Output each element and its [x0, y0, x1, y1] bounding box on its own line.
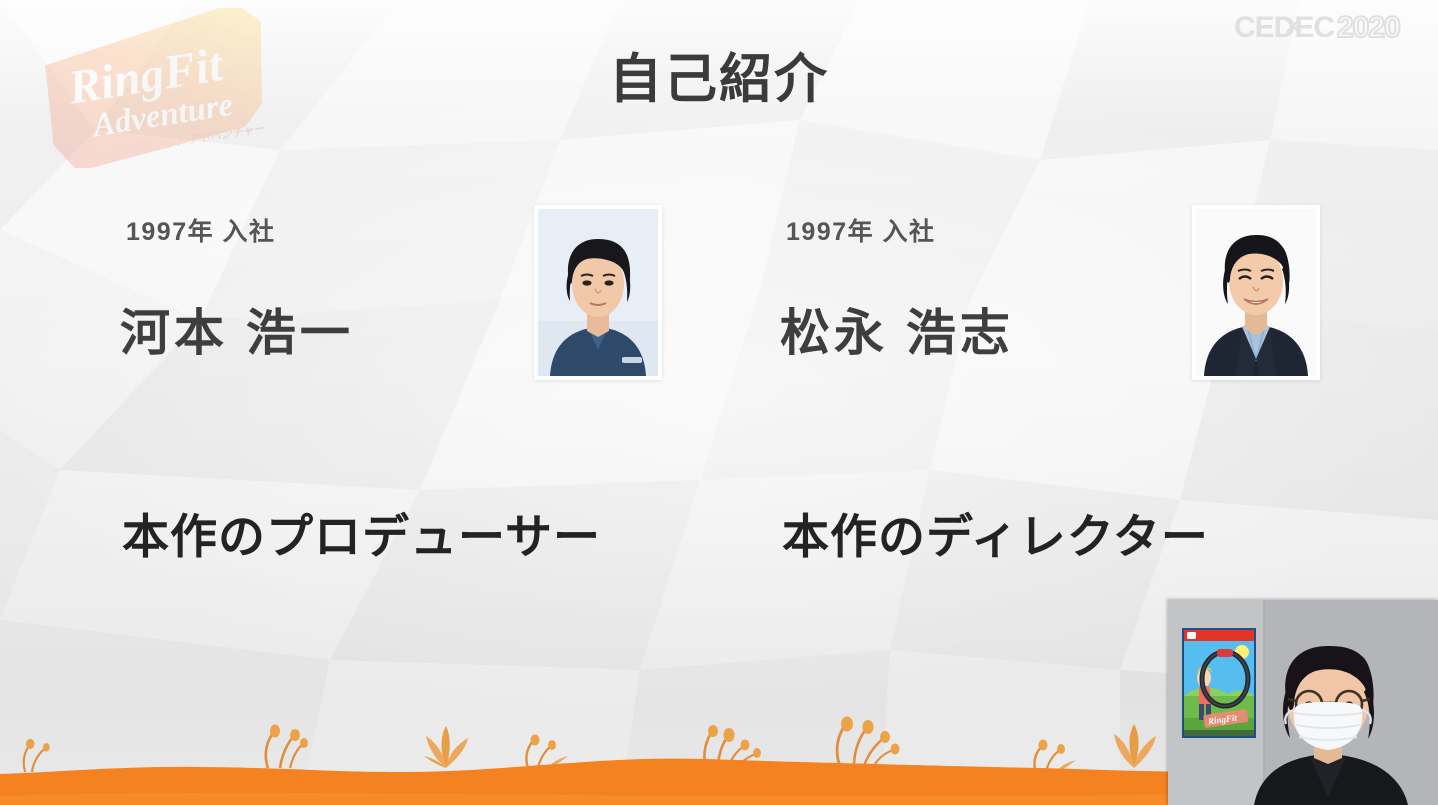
join-year-left: 1997年 入社	[126, 212, 276, 248]
cedec-2020-logo: CEDEC 2020	[1234, 9, 1426, 45]
person-card-left: 1997年 入社 河本 浩一 本作のプロデューサー	[112, 185, 712, 615]
svg-text:CEDEC: CEDEC	[1234, 11, 1334, 44]
people-columns: 1997年 入社 河本 浩一 本作のプロデューサー	[0, 185, 1438, 615]
page-title: 自己紹介	[0, 52, 1438, 108]
presenter-webcam-overlay[interactable]: RingFit	[1168, 600, 1438, 805]
portrait-photo-right	[1192, 205, 1320, 380]
person-name-right: 松永 浩志	[780, 293, 1014, 365]
presentation-slide: RingFit Adventure リングフィット アドベンチャー CEDEC …	[0, 0, 1438, 805]
person-name-left: 河本 浩一	[120, 293, 354, 365]
join-year-right: 1997年 入社	[786, 212, 936, 248]
person-role-left: 本作のプロデューサー	[122, 498, 601, 567]
svg-text:2020: 2020	[1337, 11, 1400, 44]
person-role-right: 本作のディレクター	[782, 498, 1209, 567]
person-card-right: 1997年 入社 松永 浩志 本作のディレクター	[772, 185, 1372, 615]
ringfit-poster-icon: RingFit	[1182, 628, 1256, 738]
portrait-photo-left	[534, 205, 662, 380]
